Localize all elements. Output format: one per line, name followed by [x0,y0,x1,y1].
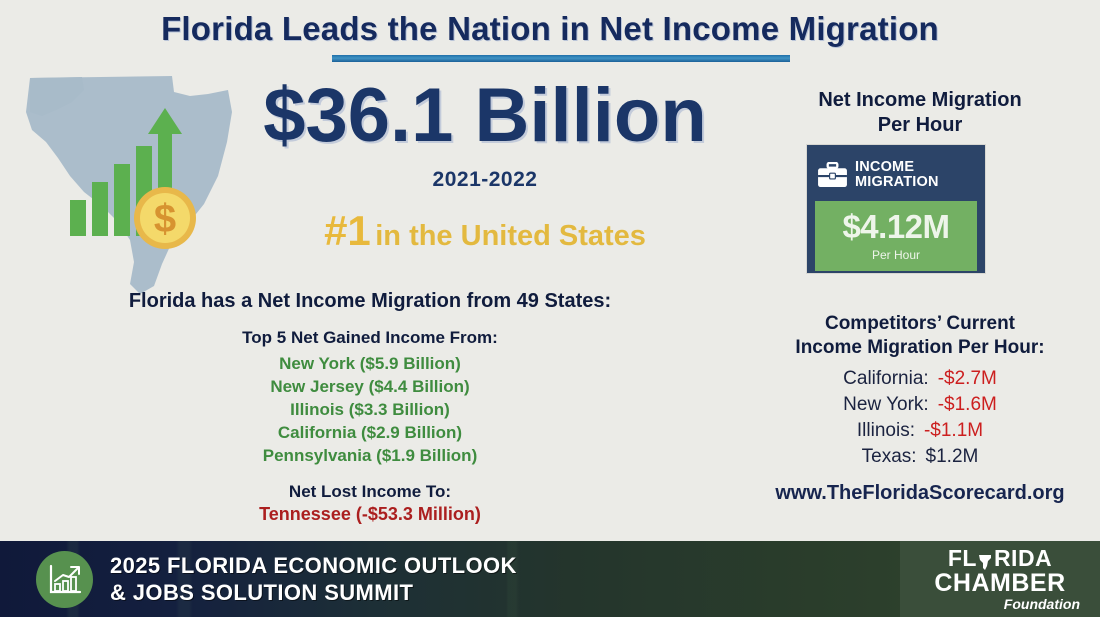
logo-line1-post: RIDA [994,547,1052,570]
competitors-list: California: -$2.7M New York: -$1.6M Illi… [748,366,1092,470]
rank-caption: in the United States [375,220,646,252]
list-item: Texas: $1.2M [748,444,1092,470]
competitor-state: California: [843,366,929,392]
income-migration-value-block: $4.12M Per Hour [815,201,977,271]
summit-title: 2025 FLORIDA ECONOMIC OUTLOOK & JOBS SOL… [110,552,590,606]
competitors-heading-line2: Income Migration Per Hour: [795,337,1044,358]
list-item: Illinois: -$1.1M [748,418,1092,444]
page-title: Florida Leads the Nation in Net Income M… [0,10,1100,48]
title-underline-rule [332,55,790,62]
competitor-value: $1.2M [926,444,979,470]
florida-map-icon: $ [22,72,237,297]
infographic-canvas: Florida Leads the Nation in Net Income M… [0,0,1100,617]
competitors-heading: Competitors’ Current Income Migration Pe… [748,312,1092,360]
dollar-coin-icon: $ [134,187,196,249]
lost-income-heading: Net Lost Income To: [60,482,680,502]
card-label-line2: MIGRATION [855,174,939,190]
scorecard-url[interactable]: www.TheFloridaScorecard.org [748,482,1092,505]
list-item: Pennsylvania ($1.9 Billion) [60,444,680,467]
headline-years: 2021-2022 [215,168,755,192]
states-headline: Florida has a Net Income Migration from … [60,290,680,313]
summit-title-line2: & JOBS SOLUTION SUMMIT [110,579,590,606]
summit-title-line1: 2025 FLORIDA ECONOMIC OUTLOOK [110,553,517,578]
income-migration-value: $4.12M [842,210,949,243]
per-hour-heading-line2: Per Hour [878,114,962,136]
briefcase-icon [817,162,848,188]
svg-text:$: $ [154,197,176,241]
list-item: New York: -$1.6M [748,392,1092,418]
florida-shape-icon [978,552,993,569]
logo-line1-pre: FL [948,547,977,570]
gained-income-list: New York ($5.9 Billion) New Jersey ($4.4… [60,352,680,467]
competitor-state: Illinois: [857,418,915,444]
summit-logo-badge [36,551,93,608]
competitor-state: Texas: [862,444,917,470]
florida-silhouette-icon [978,554,993,571]
income-migration-card: INCOME MIGRATION $4.12M Per Hour [806,144,986,274]
income-migration-value-sublabel: Per Hour [872,248,920,262]
competitor-value: -$1.6M [938,392,997,418]
logo-line3: Foundation [1004,596,1080,612]
top5-heading: Top 5 Net Gained Income From: [60,328,680,348]
income-migration-card-label: INCOME MIGRATION [855,160,939,190]
florida-map-growth-illustration: $ [22,72,237,297]
competitor-value: -$1.1M [924,418,983,444]
rank-number: #1 [324,207,371,254]
per-hour-heading: Net Income Migration Per Hour [760,88,1080,138]
lost-income-item: Tennessee (-$53.3 Million) [60,504,680,525]
list-item: New Jersey ($4.4 Billion) [60,375,680,398]
card-label-line1: INCOME [855,159,914,175]
florida-chamber-logo: FL RIDA CHAMBER Foundation [900,541,1100,617]
list-item: California ($2.9 Billion) [60,421,680,444]
list-item: Illinois ($3.3 Billion) [60,398,680,421]
income-migration-card-header: INCOME MIGRATION [815,152,977,198]
list-item: California: -$2.7M [748,366,1092,392]
logo-line2: CHAMBER [934,570,1065,596]
competitor-state: New York: [843,392,929,418]
list-item: New York ($5.9 Billion) [60,352,680,375]
per-hour-heading-line1: Net Income Migration [818,89,1021,111]
growth-chart-icon [47,563,83,597]
logo-line1: FL RIDA [948,547,1052,570]
headline-amount: $36.1 Billion [215,78,755,154]
national-rank: #1 in the United States [215,210,755,252]
competitor-value: -$2.7M [938,366,997,392]
competitors-heading-line1: Competitors’ Current [825,313,1015,334]
